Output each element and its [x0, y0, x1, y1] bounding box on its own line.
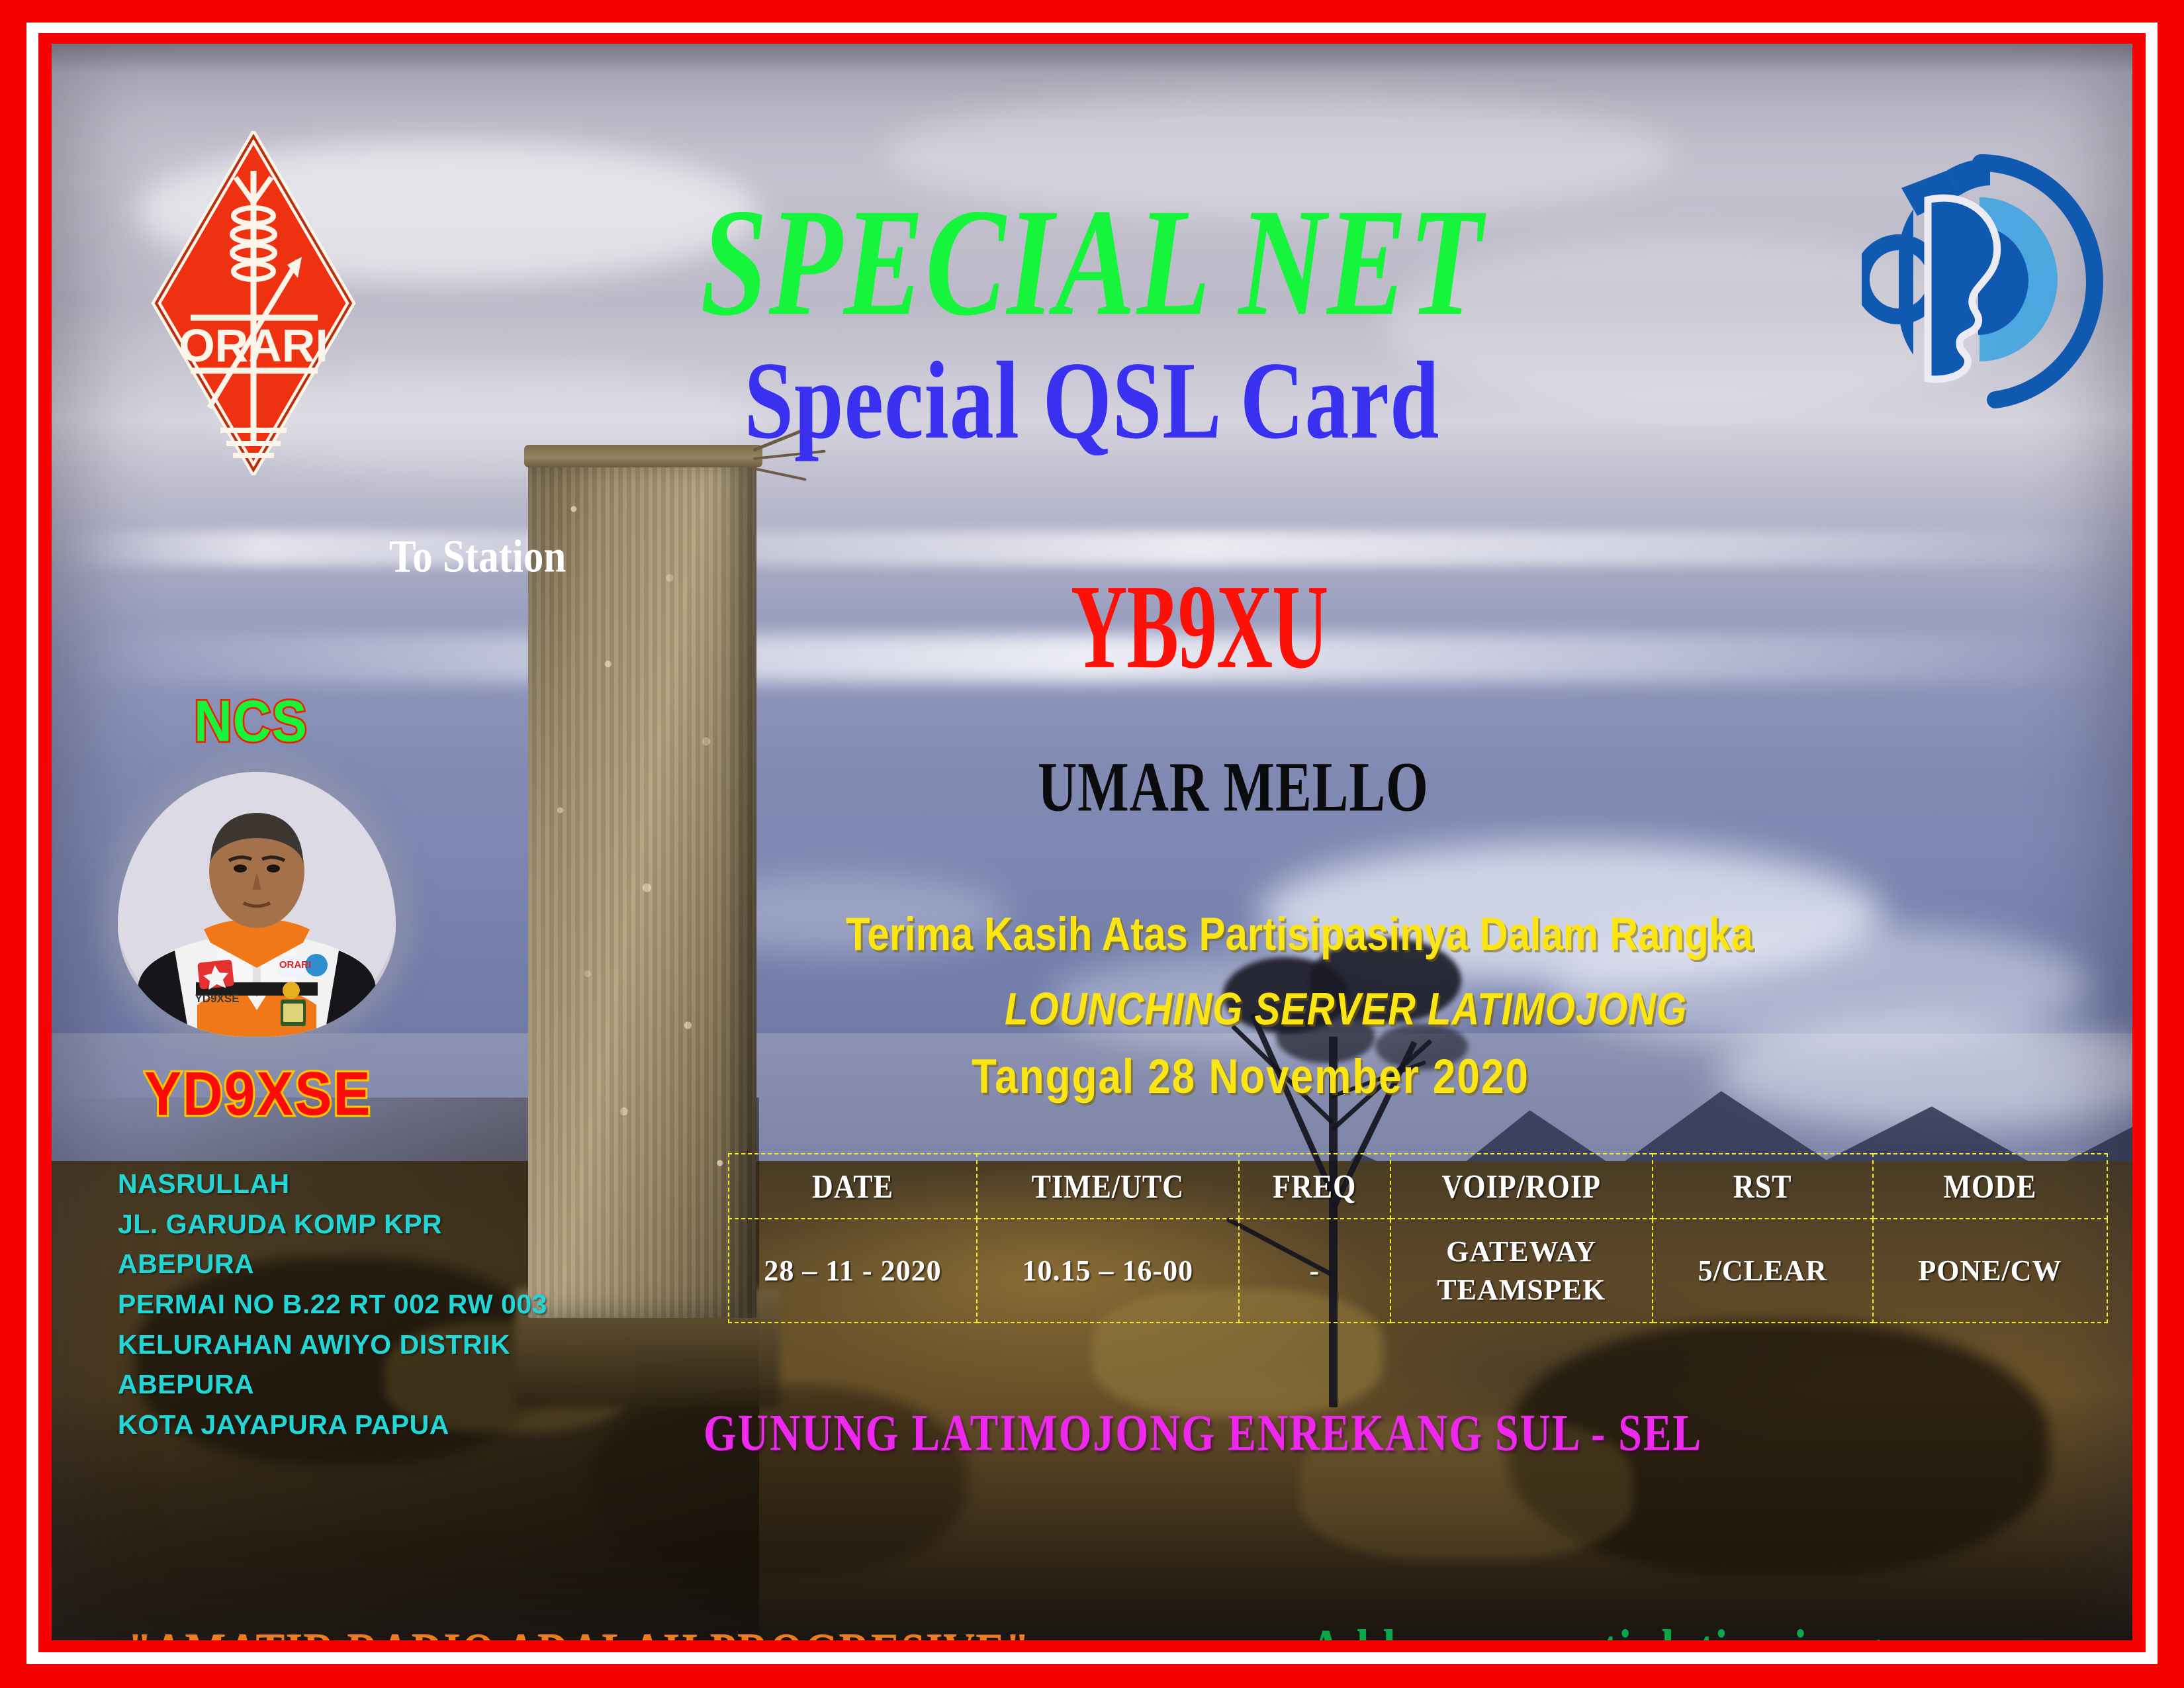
cell-voip-line2: TEAMSPEK: [1391, 1271, 1652, 1309]
card-background-photo: ORARI: [52, 44, 2132, 1640]
qso-table: DATE TIME/UTC FREQ VOIP/ROIP RST MODE 28…: [728, 1153, 2108, 1323]
event-line: LOUNCHING SERVER LATIMOJONG: [1005, 987, 1687, 1032]
mailing-address: NASRULLAH JL. GARUDA KOMP KPR ABEPURA PE…: [118, 1164, 547, 1445]
stone-pillar-monument: [528, 457, 756, 1318]
thanks-line: Terima Kasih Atas Partisipasinya Dalam R…: [846, 911, 1753, 958]
page-subtitle: Special QSL Card: [52, 345, 2132, 456]
cell-voip: GATEWAY TEAMSPEK: [1390, 1219, 1653, 1323]
operator-name: UMAR MELLO: [1038, 752, 1429, 823]
web-address-line: Address : amatir.latimojong.com: [1309, 1622, 1978, 1640]
page-title: SPECIAL NET: [52, 186, 2132, 340]
col-header-freq: FREQ: [1239, 1149, 1390, 1224]
location-line: GUNUNG LATIMOJONG ENREKANG SUL - SEL: [704, 1407, 1702, 1459]
ncs-callsign: YD9XSE: [144, 1063, 372, 1124]
motto-text: "AMATIR RADIO ADALAH PROGRESIVE": [128, 1626, 1030, 1640]
col-header-voip: VOIP/ROIP: [1390, 1149, 1653, 1224]
col-header-time: TIME/UTC: [977, 1149, 1239, 1224]
svg-text:YD9XSE: YD9XSE: [195, 992, 239, 1005]
station-callsign: YB9XU: [1071, 567, 1328, 688]
event-date-line: Tanggal 28 November 2020: [972, 1053, 1529, 1102]
col-header-date: DATE: [729, 1149, 977, 1224]
cell-date: 28 – 11 - 2020: [729, 1219, 977, 1323]
cell-mode: PONE/CW: [1873, 1219, 2107, 1323]
table-header-row: DATE TIME/UTC FREQ VOIP/ROIP RST MODE: [729, 1154, 2107, 1219]
cell-voip-line1: GATEWAY: [1391, 1233, 1652, 1270]
to-station-label: To Station: [389, 534, 566, 580]
table-row: 28 – 11 - 2020 10.15 – 16-00 - GATEWAY T…: [729, 1219, 2107, 1323]
col-header-rst: RST: [1653, 1149, 1873, 1224]
qsl-card: ORARI: [0, 0, 2184, 1688]
cell-freq: -: [1239, 1219, 1390, 1323]
svg-text:ORARI: ORARI: [279, 959, 311, 970]
ncs-label: NCS: [194, 692, 308, 751]
cell-rst: 5/CLEAR: [1653, 1219, 1873, 1323]
col-header-mode: MODE: [1873, 1149, 2107, 1224]
cell-time: 10.15 – 16-00: [977, 1219, 1239, 1323]
